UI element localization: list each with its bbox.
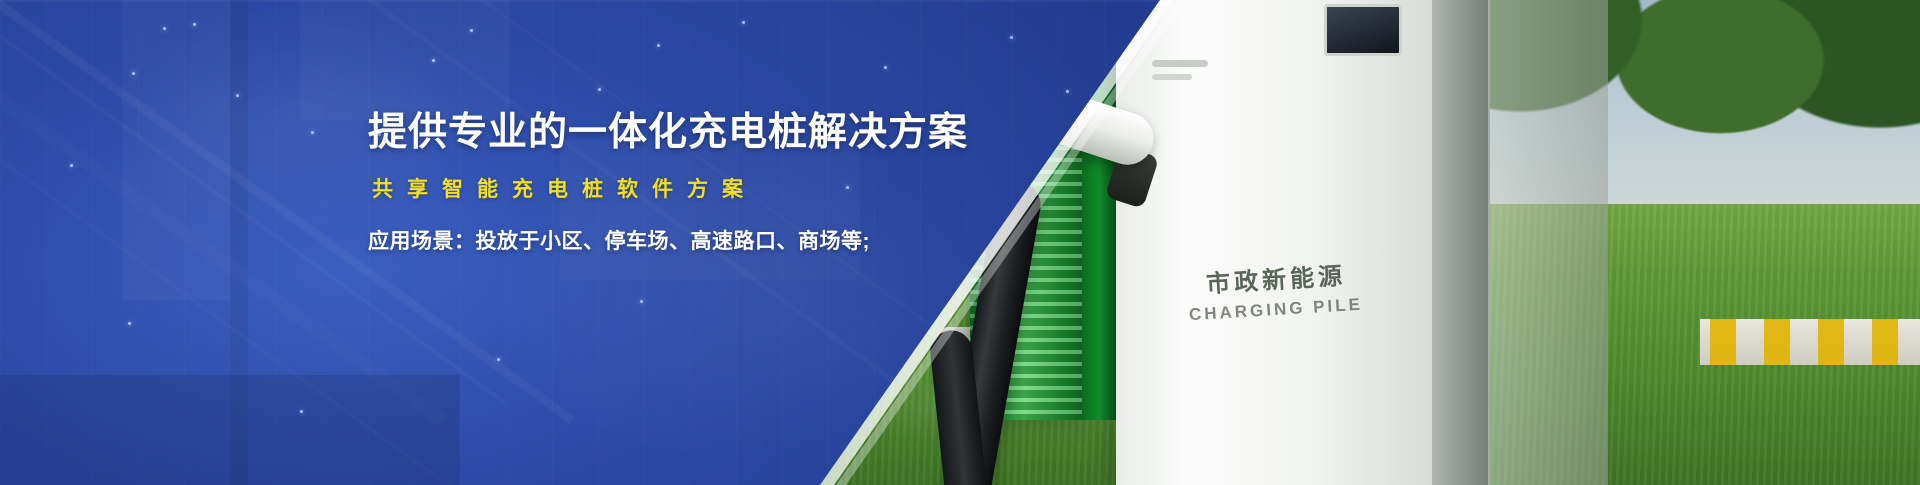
sparkle-dot (311, 131, 314, 134)
sparkle-dot (128, 322, 131, 325)
secondary-unit (1488, 0, 1608, 485)
sparkle-dot (497, 358, 500, 361)
sparkle-dot (470, 29, 473, 32)
sparkle-dot (300, 410, 303, 413)
ghost-shape (300, 0, 510, 120)
unit-display-screen (1324, 4, 1402, 56)
sparkle-dot (163, 27, 166, 30)
banner-subline: 共享智能充电桩软件方案 (372, 173, 988, 203)
sparkle-dot (432, 59, 435, 62)
sparkle-dot (657, 44, 660, 47)
sparkle-dot (193, 23, 196, 26)
sparkle-dot (1010, 36, 1013, 39)
banner-scenario-text: 应用场景：投放于小区、停车场、高速路口、商场等; (368, 225, 988, 255)
sparkle-dot (884, 66, 887, 69)
unit-vent-slot (1152, 74, 1192, 80)
sparkle-dot (132, 72, 135, 75)
sparkle-dot (236, 94, 239, 97)
sparkle-dot (742, 21, 745, 24)
hero-banner: A 市政新能源 CHARGING PILE (0, 0, 1920, 485)
charging-unit-body: 市政新能源 CHARGING PILE (1116, 0, 1436, 485)
sparkle-dot (1066, 90, 1069, 93)
banner-headline: 提供专业的一体化充电桩解决方案 (368, 108, 988, 157)
sparkle-dot (598, 88, 601, 91)
unit-right-edge (1432, 0, 1490, 485)
sparkle-dot (640, 300, 643, 303)
banner-copy-block: 提供专业的一体化充电桩解决方案 共享智能充电桩软件方案 应用场景：投放于小区、停… (368, 108, 988, 255)
sparkle-dot (70, 164, 73, 167)
painted-kerb (1700, 319, 1920, 365)
unit-vent-slot (1152, 60, 1208, 67)
